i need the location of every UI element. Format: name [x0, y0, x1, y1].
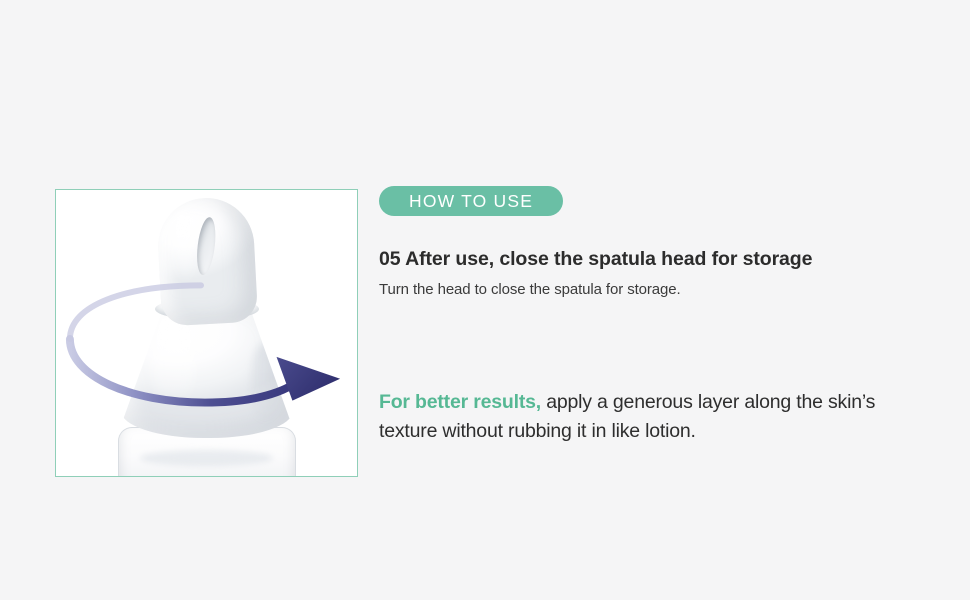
step-subtitle: Turn the head to close the spatula for s…	[379, 281, 919, 298]
product-image-stage	[56, 190, 357, 476]
step-title: 05 After use, close the spatula head for…	[379, 248, 919, 271]
spatula-head	[155, 196, 257, 327]
spatula-slot	[194, 216, 218, 276]
product-image-frame	[55, 189, 358, 477]
spatula-highlight	[171, 211, 196, 283]
instruction-content: HOW TO USE 05 After use, close the spatu…	[379, 186, 919, 446]
how-to-use-badge: HOW TO USE	[379, 186, 563, 216]
better-results-accent: For better results,	[379, 391, 541, 413]
better-results-paragraph: For better results, apply a generous lay…	[379, 388, 915, 446]
